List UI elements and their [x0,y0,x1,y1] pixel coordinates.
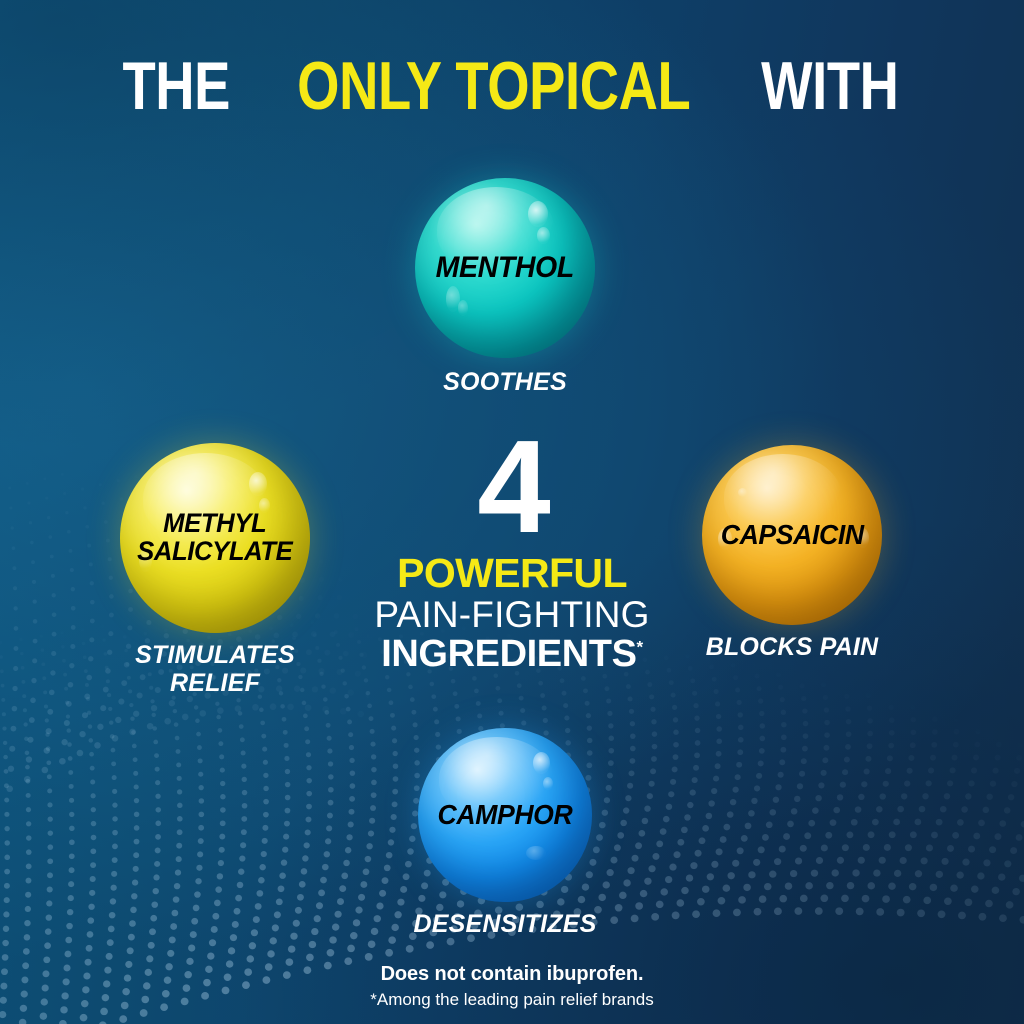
footer: Does not contain ibuprofen. *Among the l… [0,963,1024,1010]
sphere-highlight-icon [526,846,546,860]
sphere-label-methyl-salicylate: METHYL SALICYLATE [137,510,292,565]
sphere-camphor: CAMPHOR [418,728,592,902]
sphere-highlight-icon [543,777,553,790]
benefit-label-methyl-salicylate: STIMULATES RELIEF [135,641,295,697]
sphere-label-line-2: SALICYLATE [137,536,292,566]
sphere-highlight-icon [249,472,267,496]
claim-ingredients-text: INGREDIENTS [381,633,636,675]
claim-line-pain-fighting: PAIN-FIGHTING [347,595,677,634]
sphere-label-capsaicin: CAPSAICIN [721,521,864,550]
benefit-label-camphor: DESENSITIZES [414,910,597,938]
sphere-label-camphor: CAMPHOR [438,801,573,830]
ingredient-node-methyl-salicylate: METHYL SALICYLATE STIMULATES RELIEF [120,443,310,633]
claim-line-powerful: POWERFUL [347,553,677,595]
benefit-label-menthol: SOOTHES [443,368,567,396]
benefit-line-2: RELIEF [170,669,260,697]
sphere-highlight-icon [458,300,468,316]
benefit-line-1: STIMULATES [135,641,295,669]
headline-part-1: THE [122,52,230,120]
sphere-menthol: MENTHOL [415,178,595,358]
benefit-label-capsaicin: BLOCKS PAIN [706,633,879,661]
sphere-highlight-icon [537,227,550,244]
center-claim-block: 4 POWERFUL PAIN-FIGHTING INGREDIENTS* [347,432,677,674]
sphere-capsaicin: CAPSAICIN [702,445,882,625]
product-infographic: THE ONLY TOPICAL WITH MENTHOL SOOTHES ME… [0,0,1024,1024]
footer-disclaimer-main: Does not contain ibuprofen. [0,963,1024,986]
sphere-highlight-icon [446,286,460,312]
sphere-label-line-1: METHYL [163,508,266,538]
claim-line-ingredients: INGREDIENTS* [347,634,677,674]
headline-part-3: WITH [761,52,898,120]
sphere-methyl-salicylate: METHYL SALICYLATE [120,443,310,633]
sphere-highlight-icon [528,201,548,227]
footnote-asterisk: * [637,637,643,656]
ingredient-node-menthol: MENTHOL SOOTHES [415,178,595,358]
ingredient-node-capsaicin: CAPSAICIN BLOCKS PAIN [702,445,882,625]
headline-part-2: ONLY TOPICAL [297,52,690,120]
sphere-highlight-icon [533,752,550,774]
ingredient-count: 4 [347,432,677,543]
sphere-highlight-icon [738,488,747,497]
headline: THE ONLY TOPICAL WITH [0,52,1024,120]
sphere-label-menthol: MENTHOL [436,253,574,284]
footer-disclaimer-sub: *Among the leading pain relief brands [0,990,1024,1010]
ingredient-node-camphor: CAMPHOR DESENSITIZES [418,728,592,902]
